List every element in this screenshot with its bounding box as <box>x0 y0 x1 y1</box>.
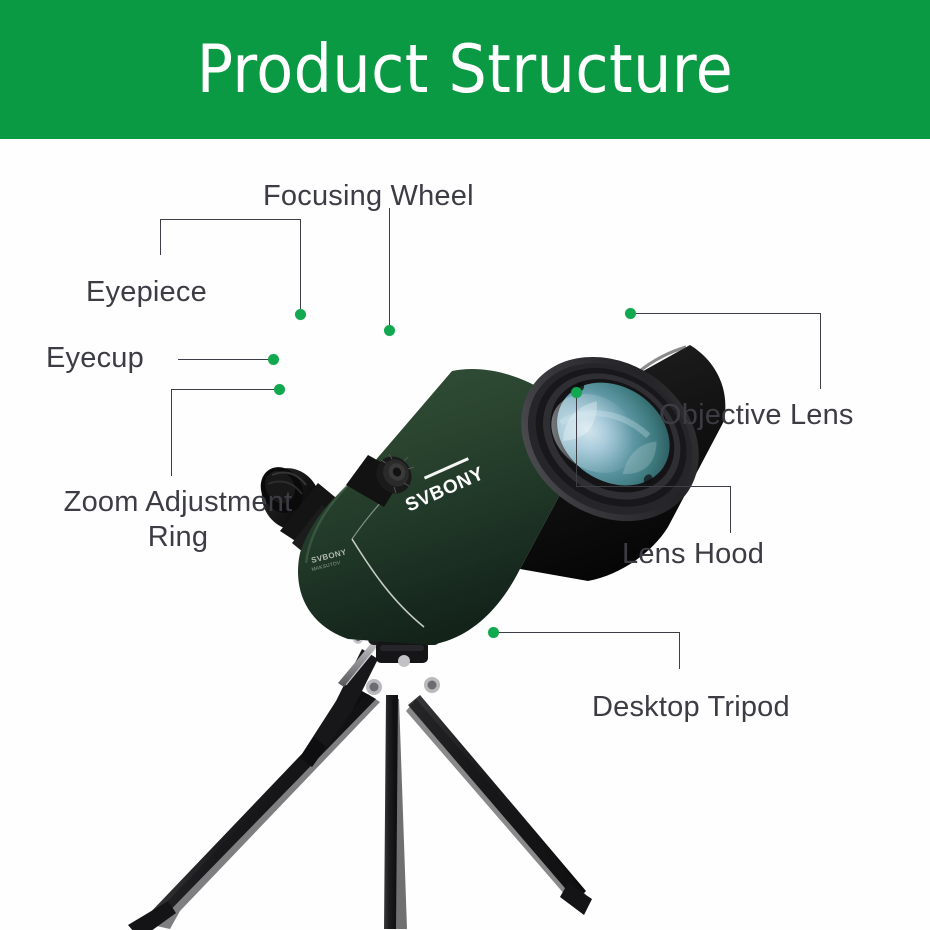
leader-objective-lens-v <box>820 313 821 389</box>
callout-objective-lens: Objective Lens <box>659 398 854 433</box>
callout-zoom-ring-line1: Zoom Adjustment <box>64 486 293 518</box>
anchor-dot-eyecup <box>268 354 279 365</box>
anchor-dot-eyepiece <box>295 309 306 320</box>
product-structure-infographic: Product Structure <box>0 0 930 930</box>
leader-eyepiece-stub <box>160 219 161 255</box>
desktop-tripod-graphic <box>128 595 592 930</box>
callout-focusing-wheel: Focusing Wheel <box>263 179 474 214</box>
leader-focusing-wheel <box>389 208 390 328</box>
leader-desktop-tripod-h <box>497 632 680 633</box>
callout-zoom-adjustment-ring: Zoom Adjustment Ring <box>30 485 326 556</box>
leader-desktop-tripod-v <box>679 632 680 669</box>
callout-lens-hood: Lens Hood <box>622 537 764 572</box>
callout-eyecup: Eyecup <box>46 341 144 376</box>
anchor-dot-focusing-wheel <box>384 325 395 336</box>
leader-lens-hood-v1 <box>576 394 577 486</box>
page-title: Product Structure <box>197 36 733 103</box>
callout-eyepiece: Eyepiece <box>86 275 207 310</box>
anchor-dot-objective-lens <box>625 308 636 319</box>
anchor-dot-zoom-ring <box>274 384 285 395</box>
leader-eyepiece-v <box>300 219 301 313</box>
callout-desktop-tripod: Desktop Tripod <box>592 690 790 725</box>
leader-objective-lens-h <box>634 313 821 314</box>
leader-zoom-ring-v <box>171 389 172 476</box>
anchor-dot-lens-hood <box>571 387 582 398</box>
leader-eyepiece-h <box>160 219 301 220</box>
header-banner: Product Structure <box>0 0 930 139</box>
leader-lens-hood-v2 <box>730 486 731 533</box>
leader-lens-hood-h <box>576 486 731 487</box>
diagram-stage: SVBONY MAKSUTOV SVBONY <box>0 139 930 930</box>
callout-zoom-ring-line2: Ring <box>148 521 208 553</box>
leader-zoom-ring-h <box>171 389 281 390</box>
anchor-dot-desktop-tripod <box>488 627 499 638</box>
leader-eyecup <box>178 359 274 360</box>
